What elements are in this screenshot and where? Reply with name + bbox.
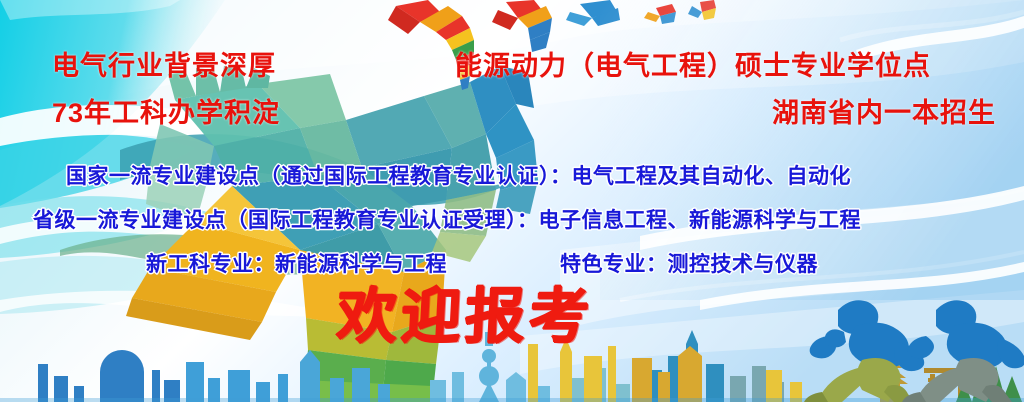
welcome-brush-title: 欢迎报考 <box>335 287 594 347</box>
program-line-provincial-first-class: 省级一流专业建设点（国际工程教育专业认证受理）：电子信息工程、新能源科学与工程 <box>33 210 861 231</box>
program-line-featured-major: 特色专业：测控技术与仪器 <box>560 254 818 275</box>
program-line-national-first-class: 国家一流专业建设点（通过国际工程教育专业认证）：电气工程及其自动化、自动化 <box>66 166 851 187</box>
program-line-new-engineering: 新工科专业：新能源科学与工程 <box>146 254 447 275</box>
headline-right-line-2: 湖南省内一本招生 <box>772 100 996 127</box>
banner-text-layer: 电气行业背景深厚 73年工科办学积淀 能源动力（电气工程）硕士专业学位点 湖南省… <box>0 0 1024 402</box>
headline-left-line-1: 电气行业背景深厚 <box>52 53 276 80</box>
headline-left-line-2: 73年工科办学积淀 <box>52 100 280 127</box>
admissions-banner: 电气行业背景深厚 73年工科办学积淀 能源动力（电气工程）硕士专业学位点 湖南省… <box>0 0 1024 402</box>
headline-right-line-1: 能源动力（电气工程）硕士专业学位点 <box>455 53 931 80</box>
